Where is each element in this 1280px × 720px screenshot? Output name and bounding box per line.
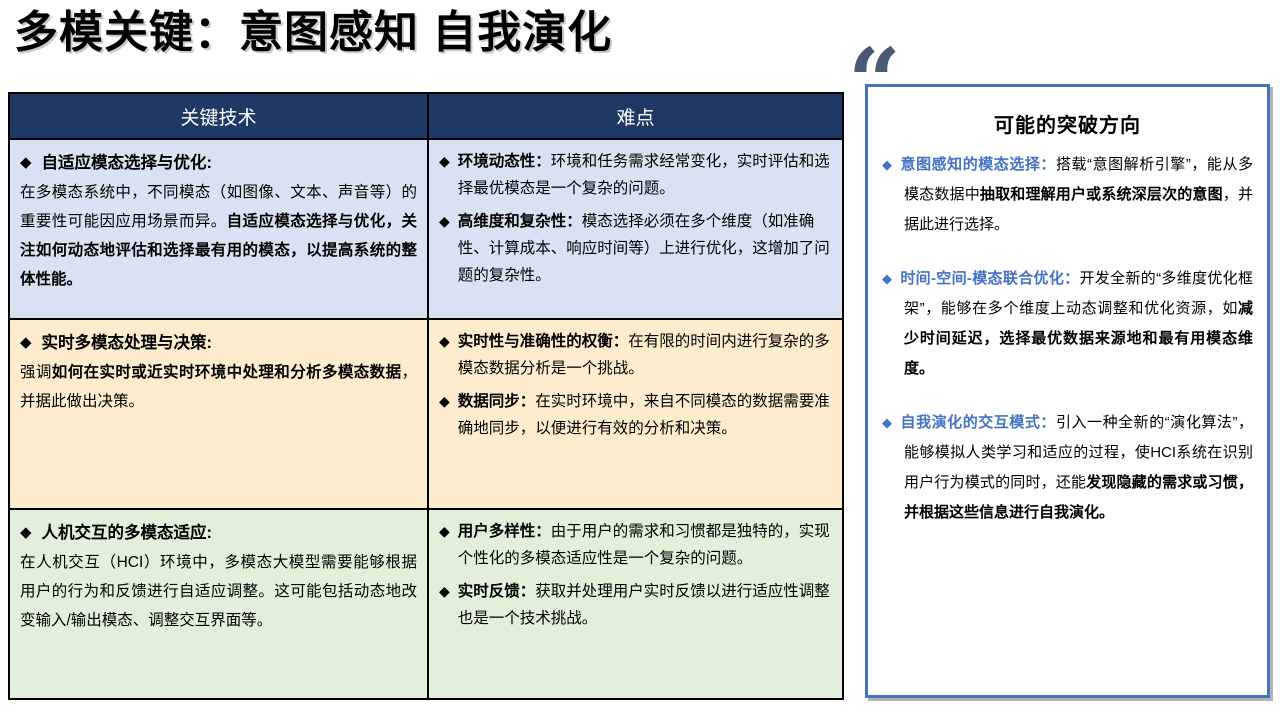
list-item: ◆ 用户多样性：由于用户的需求和习惯都是独特的，实现个性化的多模态适应性是一个复…	[439, 518, 832, 572]
diamond-bullet-icon: ◆	[439, 578, 450, 605]
cell-difficulty-3: ◆ 用户多样性：由于用户的需求和习惯都是独特的，实现个性化的多模态适应性是一个复…	[429, 510, 842, 698]
panel-list-item: ◆自我演化的交互模式：引入一种全新的“演化算法”，能够模拟人类学习和适应的过程，…	[882, 408, 1253, 528]
diamond-bullet-icon: ◆	[439, 518, 450, 545]
key-tech-difficulty-table: 关键技术 难点 ◆ 自适应模态选择与优化: 在多模态系统中，不同模态（如图像、文…	[8, 92, 844, 700]
cell-difficulty-2: ◆ 实时性与准确性的权衡：在有限的时间内进行复杂的多模态数据分析是一个挑战。 ◆…	[429, 320, 842, 508]
diamond-bullet-icon: ◆	[882, 415, 901, 430]
panel-item-key: 自我演化的交互模式：	[901, 414, 1056, 431]
cell-body: 在多模态系统中，不同模态（如图像、文本、声音等）的重要性可能因应用场景而异。自适…	[20, 178, 417, 294]
panel-title: 可能的突破方向	[882, 109, 1253, 138]
cell-difficulty-1: ◆ 环境动态性：环境和任务需求经常变化，实时评估和选择最优模态是一个复杂的问题。…	[429, 140, 842, 318]
table-row: ◆ 实时多模态处理与决策: 强调如何在实时或近实时环境中处理和分析多模态数据，并…	[10, 318, 842, 508]
cell-key-tech-1: ◆ 自适应模态选择与优化: 在多模态系统中，不同模态（如图像、文本、声音等）的重…	[10, 140, 429, 318]
panel-item-body: ◆时间-空间-模态联合优化：开发全新的“多维度优化框架”，能够在多个维度上动态调…	[882, 264, 1253, 384]
panel-item-key: 意图感知的模态选择：	[901, 156, 1056, 173]
cell-body: 强调如何在实时或近实时环境中处理和分析多模态数据，并据此做出决策。	[20, 358, 417, 416]
table-row: ◆ 自适应模态选择与优化: 在多模态系统中，不同模态（如图像、文本、声音等）的重…	[10, 138, 842, 318]
list-item: ◆ 环境动态性：环境和任务需求经常变化，实时评估和选择最优模态是一个复杂的问题。	[439, 148, 832, 202]
table-row: ◆ 人机交互的多模态适应: 在人机交互（HCI）环境中，多模态大模型需要能够根据…	[10, 508, 842, 698]
cell-body-plain: 强调	[20, 364, 52, 381]
list-item: ◆ 实时反馈：获取并处理用户实时反馈以进行适应性调整也是一个技术挑战。	[439, 578, 832, 632]
column-header-key-tech: 关键技术	[10, 94, 429, 138]
panel-item-body: ◆意图感知的模态选择：搭载“意图解析引擎”，能从多模态数据中抽取和理解用户或系统…	[882, 150, 1253, 240]
list-item-key: 环境动态性：	[458, 153, 551, 170]
table-header-row: 关键技术 难点	[10, 94, 842, 138]
panel-list-item: ◆时间-空间-模态联合优化：开发全新的“多维度优化框架”，能够在多个维度上动态调…	[882, 264, 1253, 384]
cell-heading: ◆ 自适应模态选择与优化:	[20, 148, 417, 178]
diamond-bullet-icon: ◆	[439, 208, 450, 235]
list-item-key: 数据同步：	[458, 393, 536, 410]
cell-heading-label: 自适应模态选择与优化:	[42, 148, 213, 178]
list-item: ◆ 实时性与准确性的权衡：在有限的时间内进行复杂的多模态数据分析是一个挑战。	[439, 328, 832, 382]
breakthrough-directions-panel: 可能的突破方向 ◆意图感知的模态选择：搭载“意图解析引擎”，能从多模态数据中抽取…	[865, 84, 1270, 698]
list-item-key: 高维度和复杂性：	[458, 213, 582, 230]
cell-body-bold: 如何在实时或近实时环境中处理和分析多模态数据	[52, 364, 402, 381]
diamond-bullet-icon: ◆	[882, 271, 900, 286]
column-header-difficulty: 难点	[429, 94, 842, 138]
diamond-bullet-icon: ◆	[439, 388, 450, 415]
panel-item-body: ◆自我演化的交互模式：引入一种全新的“演化算法”，能够模拟人类学习和适应的过程，…	[882, 408, 1253, 528]
cell-heading-label: 人机交互的多模态适应:	[42, 518, 213, 548]
diamond-bullet-icon: ◆	[20, 328, 32, 358]
cell-heading-label: 实时多模态处理与决策:	[42, 328, 213, 358]
diamond-bullet-icon: ◆	[20, 148, 32, 178]
diamond-bullet-icon: ◆	[882, 157, 901, 172]
cell-heading: ◆ 人机交互的多模态适应:	[20, 518, 417, 548]
panel-item-key: 时间-空间-模态联合优化：	[900, 270, 1079, 287]
cell-body: 在人机交互（HCI）环境中，多模态大模型需要能够根据用户的行为和反馈进行自适应调…	[20, 548, 417, 635]
diamond-bullet-icon: ◆	[439, 148, 450, 175]
cell-key-tech-3: ◆ 人机交互的多模态适应: 在人机交互（HCI）环境中，多模态大模型需要能够根据…	[10, 510, 429, 698]
list-item-key: 实时性与准确性的权衡：	[458, 333, 629, 350]
diamond-bullet-icon: ◆	[439, 328, 450, 355]
list-item: ◆ 高维度和复杂性：模态选择必须在多个维度（如准确性、计算成本、响应时间等）上进…	[439, 208, 832, 289]
page-title: 多模关键：意图感知 自我演化	[14, 4, 612, 62]
list-item: ◆ 数据同步：在实时环境中，来自不同模态的数据需要准确地同步，以便进行有效的分析…	[439, 388, 832, 442]
list-item-key: 实时反馈：	[458, 583, 536, 600]
diamond-bullet-icon: ◆	[20, 518, 32, 548]
panel-item-bold: 抽取和理解用户或系统深层次的意图	[980, 186, 1223, 203]
list-item-key: 用户多样性：	[458, 523, 551, 540]
panel-list-item: ◆意图感知的模态选择：搭载“意图解析引擎”，能从多模态数据中抽取和理解用户或系统…	[882, 150, 1253, 240]
cell-key-tech-2: ◆ 实时多模态处理与决策: 强调如何在实时或近实时环境中处理和分析多模态数据，并…	[10, 320, 429, 508]
cell-heading: ◆ 实时多模态处理与决策:	[20, 328, 417, 358]
